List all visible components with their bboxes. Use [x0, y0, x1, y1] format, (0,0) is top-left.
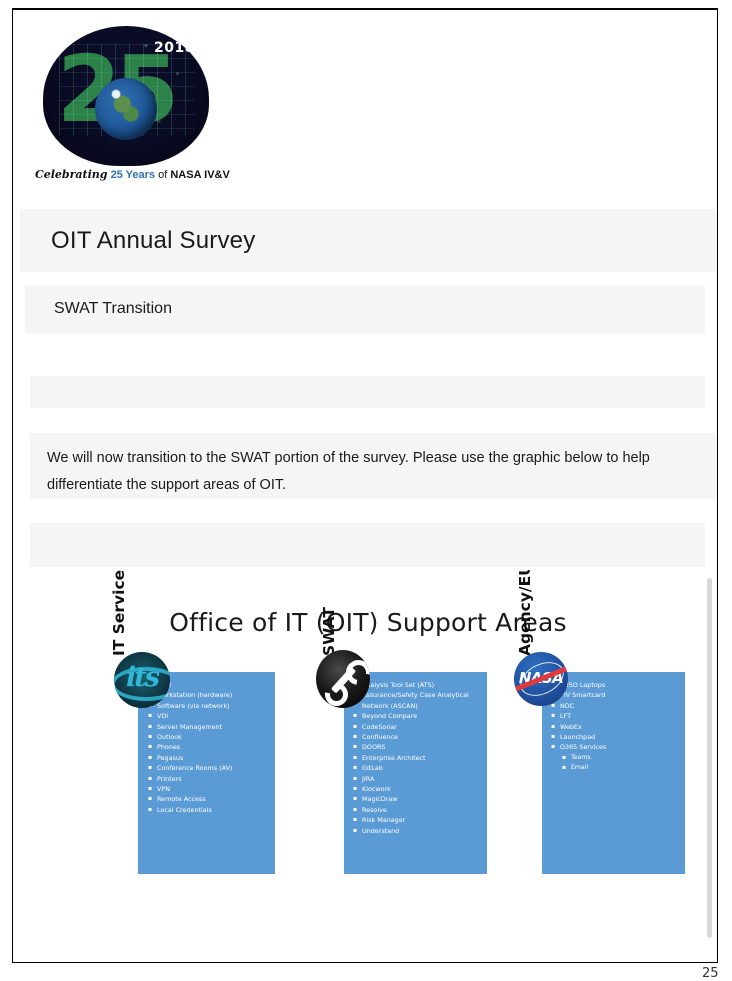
list-item: CodeSonar — [353, 722, 483, 732]
nasa-25th-anniversary-logo: 25 2018 Celebrating 25 Years of NASA IV&… — [31, 26, 221, 186]
list-item: Email — [551, 763, 681, 773]
logo-caption-script: Celebrating — [35, 168, 108, 181]
list-item: Risk Manager — [353, 815, 483, 825]
spacer-band-top — [30, 376, 705, 408]
nasa-meatball-icon: NASA — [514, 652, 568, 706]
page-title: OIT Annual Survey — [51, 227, 255, 255]
list-item: LFT — [551, 711, 681, 721]
its-logo-icon: its — [114, 652, 170, 708]
survey-title-band: OIT Annual Survey — [20, 209, 717, 272]
logo-caption-accent: 25 Years — [111, 169, 155, 181]
list-item: Confluence — [353, 732, 483, 742]
logo-earth-icon — [95, 78, 157, 140]
support-areas-graphic-pane[interactable]: Office of IT (OIT) Support Areas IT Serv… — [30, 570, 718, 955]
logo-caption-bold: NASA IV&V — [170, 169, 230, 181]
list-item: Assurance/Safety Case Analytical Network… — [353, 690, 483, 711]
list-item: DOORS — [353, 742, 483, 752]
list-item: Local Credentials — [148, 805, 272, 815]
spacer-band-bottom — [30, 523, 705, 567]
list-item: Analysis Tool Set (ATS) — [353, 680, 483, 690]
list-item: Remote Access — [148, 794, 272, 804]
list-item: Software (via network) — [148, 701, 272, 711]
graphic-scrollbar[interactable] — [707, 572, 712, 953]
list-item: WebEx — [551, 722, 681, 732]
column-label-its: IT Services Department — [106, 570, 132, 656]
list-item: Enterprise Architect — [353, 753, 483, 763]
list-item: Server Management — [148, 722, 272, 732]
list-item: VDI — [148, 711, 272, 721]
body-text-band: We will now transition to the SWAT porti… — [30, 433, 717, 499]
list-item: Launchpad — [551, 732, 681, 742]
section-title: SWAT Transition — [54, 300, 172, 318]
list-item: Pegasus — [148, 753, 272, 763]
list-item: Resolve — [353, 805, 483, 815]
list-item: GitLab — [353, 763, 483, 773]
column-label-euso: Agency/EUSO — [512, 570, 538, 656]
logo-caption: Celebrating 25 Years of NASA IV&V — [35, 168, 221, 181]
body-text: We will now transition to the SWAT porti… — [47, 445, 712, 499]
column-label-swat: SWAT — [316, 570, 342, 656]
list-item: O365 Services — [551, 742, 681, 752]
its-wordmark: its — [114, 661, 170, 695]
page-frame: 25 2018 Celebrating 25 Years of NASA IV&… — [12, 8, 718, 963]
section-header-band: SWAT Transition — [25, 286, 705, 334]
graphic-scrollbar-thumb[interactable] — [707, 578, 712, 938]
list-item: MagicDraw — [353, 794, 483, 804]
list-item: Printers — [148, 774, 272, 784]
logo-disc: 25 2018 — [43, 26, 209, 166]
support-areas-graphic: Office of IT (OIT) Support Areas IT Serv… — [30, 570, 706, 955]
pane-divider — [717, 570, 718, 955]
wrench-head-bottom — [320, 678, 352, 708]
wrench-head-top — [341, 655, 370, 690]
list-item: Conference Rooms (AV) — [148, 763, 272, 773]
list-item: Klocwork — [353, 784, 483, 794]
list-item: VPN — [148, 784, 272, 794]
list-item: Teams — [551, 753, 681, 763]
wrench-icon — [316, 650, 370, 708]
list-item: Outlook — [148, 732, 272, 742]
list-item: Beyond Compare — [353, 711, 483, 721]
logo-caption-plain: of — [158, 169, 167, 181]
list-item: NDC — [551, 701, 681, 711]
column-list-its: ECM Workstation (hardware) Software (via… — [148, 680, 272, 815]
list-item: JIRA — [353, 774, 483, 784]
page-number: 25 — [702, 966, 719, 981]
logo-band: 25 2018 Celebrating 25 Years of NASA IV&… — [13, 10, 717, 196]
logo-year-label: 2018 — [154, 40, 195, 56]
list-item: Phones — [148, 742, 272, 752]
column-list-euso: EUSO Laptops PIV Smartcard NDC LFT WebEx… — [551, 680, 681, 774]
list-item: Understand — [353, 826, 483, 836]
column-list-swat: Analysis Tool Set (ATS) Assurance/Safety… — [353, 680, 483, 836]
list-item: EUSO Laptops — [551, 680, 681, 690]
list-item: PIV Smartcard — [551, 690, 681, 700]
